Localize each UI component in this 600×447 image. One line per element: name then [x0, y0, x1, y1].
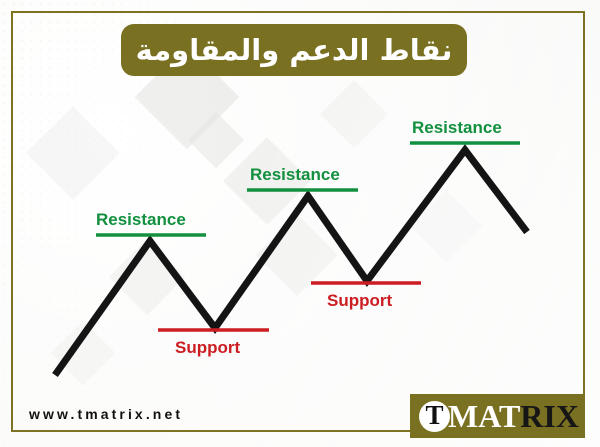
support-label: Support — [175, 339, 240, 356]
infographic-canvas: نقاط الدعم والمقاومة ResistanceSupportRe… — [0, 0, 600, 447]
brand-logo: T MATRIX — [410, 394, 585, 438]
logo-mark-letter: T — [425, 402, 443, 429]
logo-word-light: MAT — [448, 398, 520, 434]
price-chart — [0, 0, 600, 447]
logo-word-dark: RIX — [520, 398, 579, 434]
site-url: www.tmatrix.net — [29, 406, 183, 422]
logo-t-icon: T — [419, 401, 450, 432]
resistance-label: Resistance — [96, 211, 186, 228]
resistance-label: Resistance — [412, 119, 502, 136]
support-label: Support — [327, 292, 392, 309]
resistance-label: Resistance — [250, 166, 340, 183]
logo-wordmark: MATRIX — [448, 400, 579, 432]
